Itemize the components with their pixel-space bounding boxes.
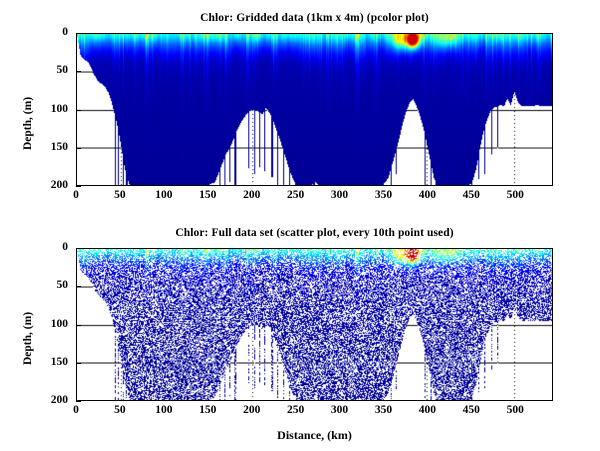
bottom-xtick-0: 0: [56, 404, 96, 416]
bottom-xtick-500: 500: [495, 404, 535, 416]
top-xtick-150: 150: [188, 189, 228, 201]
tickmark: [76, 401, 81, 402]
bottom-ytick-100: 100: [24, 318, 68, 330]
tickmark: [76, 110, 81, 111]
bottom-xtick-100: 100: [144, 404, 184, 416]
bottom-plot-title: Chlor: Full data set (scatter plot, ever…: [76, 227, 553, 239]
tickmark: [76, 248, 81, 249]
top-plot-title: Chlor: Gridded data (1km x 4m) (pcolor p…: [76, 12, 553, 24]
figure-container: Chlor: Gridded data (1km x 4m) (pcolor p…: [0, 0, 600, 451]
top-ytick-0: 0: [24, 26, 68, 38]
bottom-plot-canvas: [77, 249, 552, 400]
bottom-xtick-300: 300: [320, 404, 360, 416]
tickmark: [76, 363, 81, 364]
top-xtick-250: 250: [276, 189, 316, 201]
bottom-xtick-200: 200: [232, 404, 272, 416]
bottom-plot-axes: [76, 248, 553, 401]
x-axis-label: Distance, (km): [76, 428, 553, 443]
tickmark: [76, 71, 81, 72]
top-xtick-50: 50: [100, 189, 140, 201]
bottom-ytick-150: 150: [24, 356, 68, 368]
top-plot-axes: [76, 33, 553, 186]
top-xtick-100: 100: [144, 189, 184, 201]
top-xtick-450: 450: [451, 189, 491, 201]
tickmark: [76, 325, 81, 326]
bottom-ytick-0: 0: [24, 241, 68, 253]
top-ytick-50: 50: [24, 64, 68, 76]
top-ytick-100: 100: [24, 103, 68, 115]
bottom-xtick-350: 350: [363, 404, 403, 416]
bottom-xtick-250: 250: [276, 404, 316, 416]
tickmark: [76, 148, 81, 149]
top-xtick-200: 200: [232, 189, 272, 201]
top-ytick-150: 150: [24, 141, 68, 153]
bottom-xtick-150: 150: [188, 404, 228, 416]
top-xtick-500: 500: [495, 189, 535, 201]
top-xtick-400: 400: [407, 189, 447, 201]
bottom-ytick-50: 50: [24, 279, 68, 291]
top-plot-canvas: [77, 34, 552, 185]
bottom-xtick-50: 50: [100, 404, 140, 416]
bottom-xtick-400: 400: [407, 404, 447, 416]
tickmark: [76, 286, 81, 287]
tickmark: [76, 33, 81, 34]
tickmark: [76, 186, 81, 187]
top-xtick-0: 0: [56, 189, 96, 201]
bottom-xtick-450: 450: [451, 404, 491, 416]
top-xtick-350: 350: [363, 189, 403, 201]
top-xtick-300: 300: [320, 189, 360, 201]
